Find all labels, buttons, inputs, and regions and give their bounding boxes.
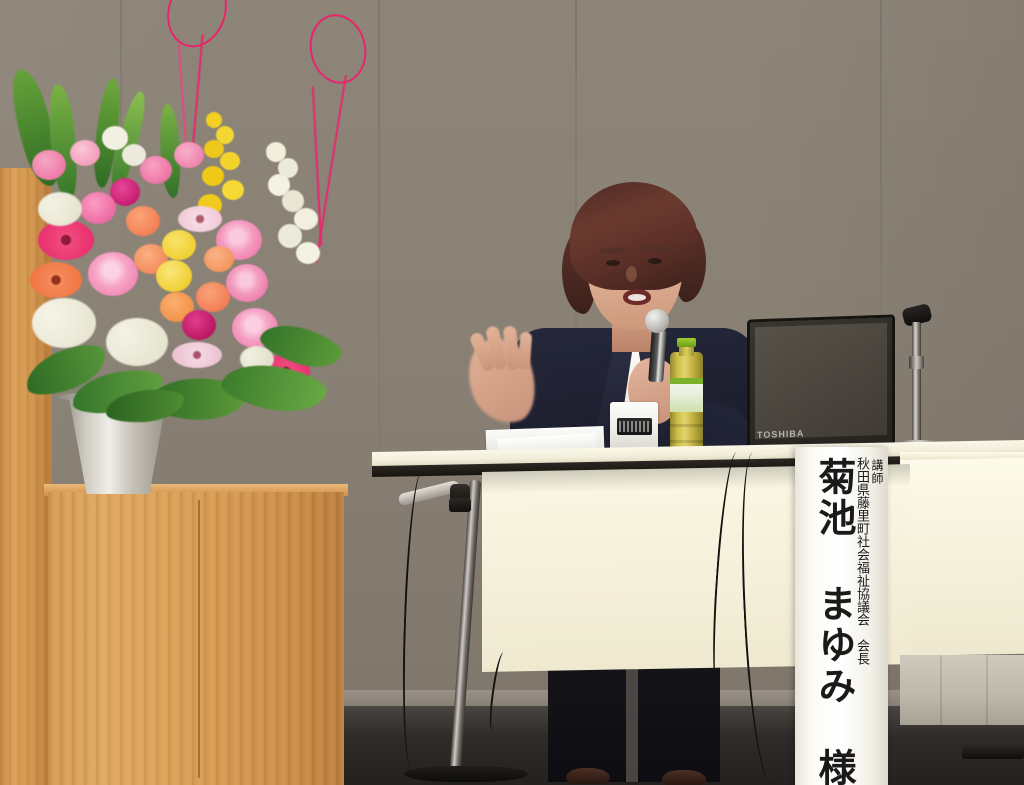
pink-flower <box>32 150 66 180</box>
pink-flower <box>140 156 172 184</box>
handheld-microphone-head <box>645 309 669 333</box>
eye-right <box>648 258 662 264</box>
white-flower <box>296 242 320 264</box>
yellow-flower <box>220 152 240 170</box>
babys-breath <box>38 192 82 226</box>
shoe-right <box>662 770 706 785</box>
desk-timer-readout <box>619 421 650 432</box>
laptop-brand-label: TOSHIBA <box>757 428 811 442</box>
babys-breath <box>106 318 168 366</box>
table-right-panel <box>900 458 1024 656</box>
tea-bottle-ring <box>670 440 703 443</box>
yellow-flower <box>202 166 224 186</box>
pink-flower <box>70 140 100 166</box>
placard-role-text: 講師 <box>871 455 883 485</box>
pink-flower <box>174 142 204 168</box>
speaker-name-placard: 講師 秋田県藤里町社会福祉協議会 会長 菊池 まゆみ 様 <box>795 447 888 785</box>
stage-drape <box>900 655 1024 725</box>
laptop-screen <box>755 323 887 440</box>
gerbera-pale <box>172 342 222 368</box>
rose-pink <box>226 264 268 302</box>
tea-bottle-label-stripe <box>670 378 703 384</box>
gerbera-pale <box>178 206 222 232</box>
magenta-flower <box>182 310 216 340</box>
coral-flower <box>204 246 234 272</box>
placard-name-text: 菊池 まゆみ 様 <box>814 455 852 785</box>
yellow-flower <box>222 180 244 200</box>
table-foot-left <box>404 766 528 782</box>
yellow-flower <box>206 112 222 128</box>
floor-equipment <box>962 745 1024 759</box>
podium-door-seam <box>198 500 200 778</box>
pink-flower <box>80 192 116 224</box>
podium-cabinet <box>48 492 344 785</box>
desk-microphone-pole <box>912 322 921 444</box>
photo-scene: TOSHIBA 講師 秋田県藤里町社会福祉協議会 会長 菊池 ま <box>0 0 1024 785</box>
placard-organization-text: 秋田県藤里町社会福祉協議会 会長 <box>856 455 869 665</box>
gerbera-pink <box>38 220 94 260</box>
drape-fold <box>986 655 988 725</box>
placard-columns: 講師 秋田県藤里町社会福祉協議会 会長 菊池 まゆみ 様 <box>795 447 888 785</box>
teeth <box>628 294 646 301</box>
tea-bottle-cap <box>677 338 696 347</box>
floor-mic-clamp <box>449 498 471 512</box>
shoe-left <box>566 768 610 784</box>
flower-arrangement <box>10 60 340 460</box>
wall-seam <box>378 0 380 470</box>
nose <box>626 266 637 282</box>
coral-flower <box>126 206 160 236</box>
yellow-flower <box>156 260 192 292</box>
tea-bottle-ring <box>670 424 703 427</box>
coral-flower <box>196 282 230 312</box>
rose-pink <box>88 252 138 296</box>
drape-fold <box>940 655 942 725</box>
desk-microphone-collar <box>909 356 924 369</box>
eye-left <box>606 260 620 266</box>
gerbera-coral <box>30 262 82 298</box>
white-flower <box>102 126 128 150</box>
yellow-flower <box>162 230 196 260</box>
babys-breath <box>32 298 96 348</box>
